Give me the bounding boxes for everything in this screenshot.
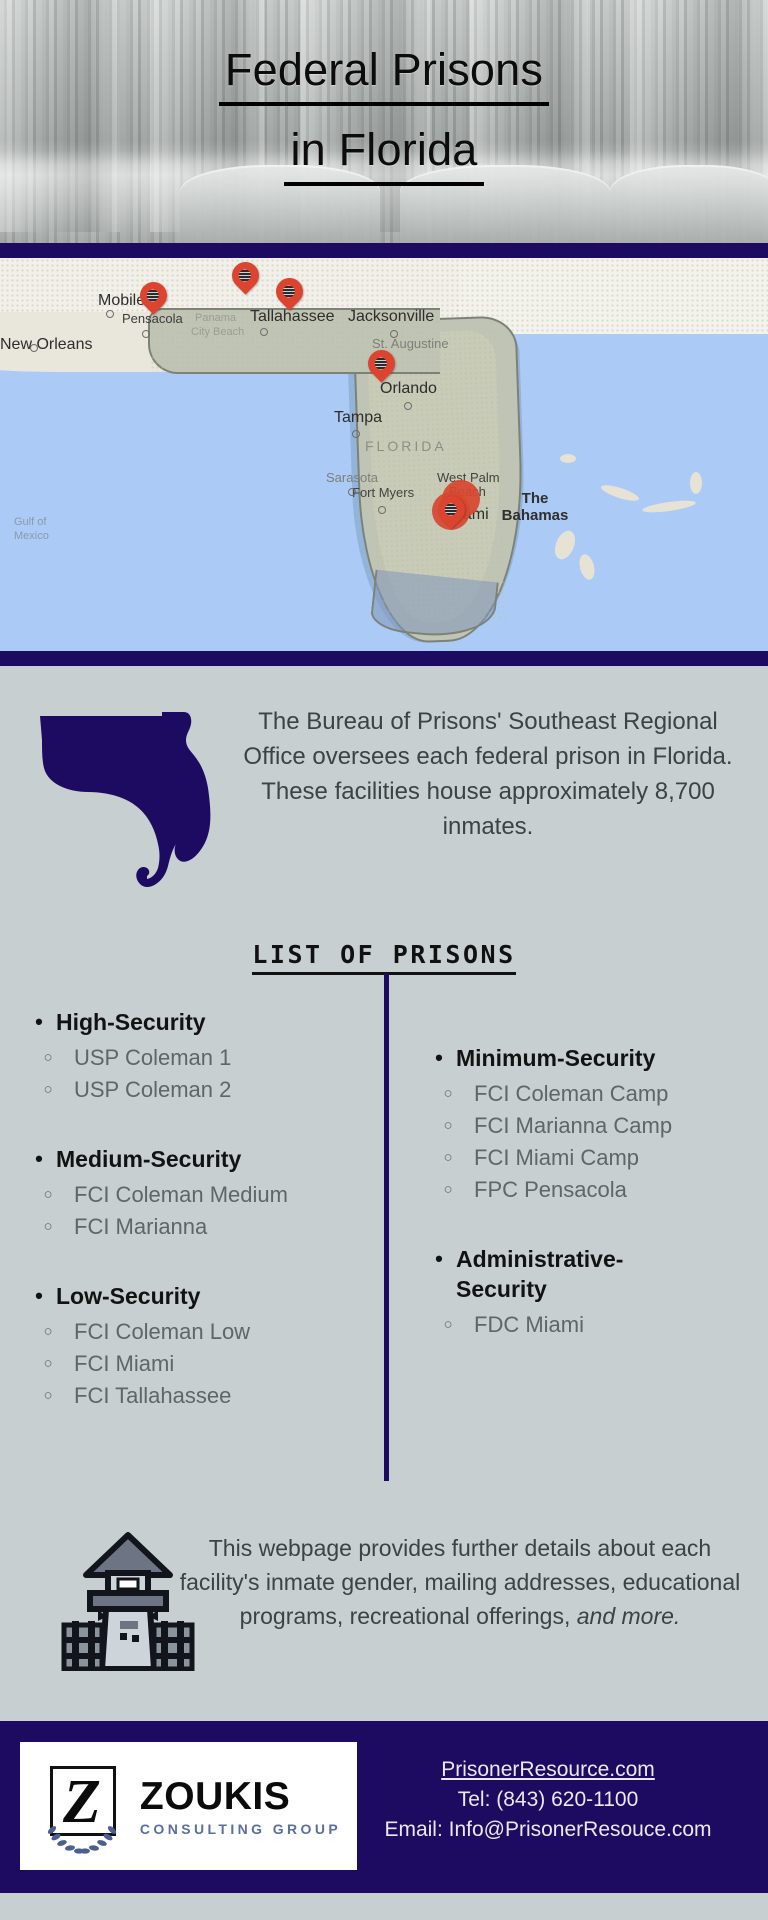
prison-list-left-column: • High-Security ○ USP Coleman 1 ○ USP Co… (0, 1007, 384, 1507)
list-item[interactable]: ○ FCI Coleman Medium (22, 1179, 370, 1211)
map-label-jacksonville: Jacksonville (348, 308, 434, 326)
map-city-dot-tampa (352, 430, 360, 438)
prison-name: FPC Pensacola (474, 1174, 758, 1206)
prison-lists: • High-Security ○ USP Coleman 1 ○ USP Co… (0, 969, 768, 1507)
hollow-bullet-icon: ○ (22, 1179, 74, 1211)
prison-name: FDC Miami (474, 1309, 758, 1341)
prison-group-administrative-security: • Administrative-Security ○ FDC Miami (422, 1244, 758, 1341)
prison-group-high-security: • High-Security ○ USP Coleman 1 ○ USP Co… (22, 1007, 370, 1106)
bullet-icon: • (22, 1144, 56, 1174)
prison-group-title: Administrative-Security (456, 1244, 656, 1304)
list-item[interactable]: ○ USP Coleman 1 (22, 1042, 370, 1074)
map-label-mexico: Mexico (14, 530, 49, 542)
list-item[interactable]: ○ FPC Pensacola (422, 1174, 758, 1206)
map-label-gulf-of: Gulf of (14, 516, 46, 528)
prison-group-header: • Medium-Security (22, 1144, 370, 1174)
bullet-icon: • (22, 1007, 56, 1037)
hollow-bullet-icon: ○ (422, 1142, 474, 1174)
hollow-bullet-icon: ○ (422, 1174, 474, 1206)
navy-divider-bottom (0, 651, 768, 666)
map-city-dot-new-orleans (30, 344, 38, 352)
list-item[interactable]: ○ USP Coleman 2 (22, 1074, 370, 1106)
footer-website-link[interactable]: PrisonerResource.com (348, 1755, 748, 1785)
logo-company-name: ZOUKIS (140, 1777, 341, 1816)
map-label-florida: FLORIDA (365, 438, 447, 454)
florida-map: The Bahamas New Orleans Mobile Pensacola… (0, 258, 768, 651)
prison-group-medium-security: • Medium-Security ○ FCI Coleman Medium ○… (22, 1144, 370, 1243)
prison-name: FCI Coleman Medium (74, 1179, 370, 1211)
florida-silhouette-icon (34, 708, 224, 896)
map-bahamas-island-4 (690, 472, 702, 494)
outro-section: This webpage provides further details ab… (0, 1507, 768, 1721)
map-city-dot-sarasota (348, 488, 356, 496)
zoukis-logo-wordmark: ZOUKIS CONSULTING GROUP (140, 1777, 341, 1836)
prison-group-header: • High-Security (22, 1007, 370, 1037)
hollow-bullet-icon: ○ (422, 1309, 474, 1341)
map-city-dot-mobile (106, 310, 114, 318)
navy-divider-top (0, 243, 768, 258)
infographic-page: Federal Prisons in Florida The Bahamas N… (0, 0, 768, 1920)
prison-group-header: • Administrative-Security (422, 1244, 758, 1304)
hollow-bullet-icon: ○ (422, 1078, 474, 1110)
prison-group-title: Minimum-Security (456, 1043, 758, 1073)
map-city-dot-pensacola (142, 330, 150, 338)
prison-sublist: ○ FCI Coleman Low ○ FCI Miami ○ FCI Tall… (22, 1316, 370, 1412)
footer-contact: PrisonerResource.com Tel: (843) 620-1100… (348, 1755, 748, 1845)
hollow-bullet-icon: ○ (22, 1074, 74, 1106)
prison-name: FCI Tallahassee (74, 1380, 370, 1412)
list-item[interactable]: ○ FCI Marianna Camp (422, 1110, 758, 1142)
list-item[interactable]: ○ FDC Miami (422, 1309, 758, 1341)
map-label-bahamas: The Bahamas (490, 490, 580, 524)
footer-bar: Z (0, 1721, 768, 1893)
prison-name: FCI Coleman Camp (474, 1078, 758, 1110)
prison-name: USP Coleman 1 (74, 1042, 370, 1074)
bullet-icon: • (22, 1281, 56, 1311)
prison-group-low-security: • Low-Security ○ FCI Coleman Low ○ FCI M… (22, 1281, 370, 1412)
prison-sublist: ○ USP Coleman 1 ○ USP Coleman 2 (22, 1042, 370, 1106)
map-city-dot-tallahassee (260, 328, 268, 336)
map-label-tampa: Tampa (334, 409, 382, 427)
map-label-fort-myers: Fort Myers (352, 485, 414, 500)
list-item[interactable]: ○ FCI Miami Camp (422, 1142, 758, 1174)
header-banner: Federal Prisons in Florida (0, 0, 768, 243)
list-item[interactable]: ○ FCI Coleman Low (22, 1316, 370, 1348)
prison-name: FCI Coleman Low (74, 1316, 370, 1348)
list-item[interactable]: ○ FCI Tallahassee (22, 1380, 370, 1412)
intro-paragraph: The Bureau of Prisons' Southeast Regiona… (232, 704, 744, 844)
prison-group-minimum-security: • Minimum-Security ○ FCI Coleman Camp ○ … (422, 1043, 758, 1206)
list-of-prisons-heading: LIST OF PRISONS (0, 916, 768, 969)
prison-group-title: High-Security (56, 1007, 370, 1037)
prison-group-header: • Minimum-Security (422, 1043, 758, 1073)
hollow-bullet-icon: ○ (22, 1348, 74, 1380)
page-title: Federal Prisons in Florida (0, 40, 768, 200)
page-title-line-1: Federal Prisons (219, 40, 549, 106)
list-item[interactable]: ○ FCI Miami (22, 1348, 370, 1380)
map-label-panama-city-beach: City Beach (191, 326, 244, 338)
outro-paragraph: This webpage provides further details ab… (176, 1531, 744, 1633)
hollow-bullet-icon: ○ (22, 1211, 74, 1243)
prison-name: FCI Marianna (74, 1211, 370, 1243)
intro-section: The Bureau of Prisons' Southeast Regiona… (0, 666, 768, 916)
map-label-mobile: Mobile (98, 292, 145, 310)
list-item[interactable]: ○ FCI Marianna (22, 1211, 370, 1243)
prison-name: FCI Miami Camp (474, 1142, 758, 1174)
zoukis-logo[interactable]: Z (20, 1742, 357, 1870)
map-label-sarasota: Sarasota (326, 470, 378, 485)
map-label-new-orleans: New Orleans (0, 336, 92, 354)
map-bahamas-island-1 (560, 454, 576, 463)
prison-list-right-column: • Minimum-Security ○ FCI Coleman Camp ○ … (384, 1007, 768, 1507)
map-label-orlando: Orlando (380, 380, 437, 398)
footer-telephone: Tel: (843) 620-1100 (348, 1785, 748, 1815)
column-divider (384, 973, 389, 1481)
page-title-line-2: in Florida (284, 120, 483, 186)
prison-name: FCI Marianna Camp (474, 1110, 758, 1142)
hollow-bullet-icon: ○ (22, 1316, 74, 1348)
list-item[interactable]: ○ FCI Coleman Camp (422, 1078, 758, 1110)
map-city-dot-orlando (404, 402, 412, 410)
prison-group-header: • Low-Security (22, 1281, 370, 1311)
content-area: The Bureau of Prisons' Southeast Regiona… (0, 666, 768, 1721)
hollow-bullet-icon: ○ (22, 1380, 74, 1412)
prison-group-title: Medium-Security (56, 1144, 370, 1174)
bullet-icon: • (422, 1244, 456, 1274)
map-city-dot-jacksonville (390, 330, 398, 338)
hollow-bullet-icon: ○ (422, 1110, 474, 1142)
zoukis-logo-mark: Z (36, 1760, 128, 1852)
hollow-bullet-icon: ○ (22, 1042, 74, 1074)
prison-name: FCI Miami (74, 1348, 370, 1380)
map-label-tallahassee: Tallahassee (250, 308, 335, 326)
prison-group-title: Low-Security (56, 1281, 370, 1311)
outro-text-italic: and more. (577, 1603, 681, 1629)
laurel-wreath-icon (42, 1824, 122, 1854)
prison-sublist: ○ FCI Coleman Camp ○ FCI Marianna Camp ○… (422, 1078, 758, 1206)
prison-sublist: ○ FCI Coleman Medium ○ FCI Marianna (22, 1179, 370, 1243)
bullet-icon: • (422, 1043, 456, 1073)
footer-email: Email: Info@PrisonerResouce.com (348, 1815, 748, 1845)
prison-name: USP Coleman 2 (74, 1074, 370, 1106)
prison-sublist: ○ FDC Miami (422, 1309, 758, 1341)
map-label-panama: Panama (195, 312, 236, 324)
map-city-dot-fort-myers (378, 506, 386, 514)
logo-tagline: CONSULTING GROUP (140, 1822, 341, 1836)
